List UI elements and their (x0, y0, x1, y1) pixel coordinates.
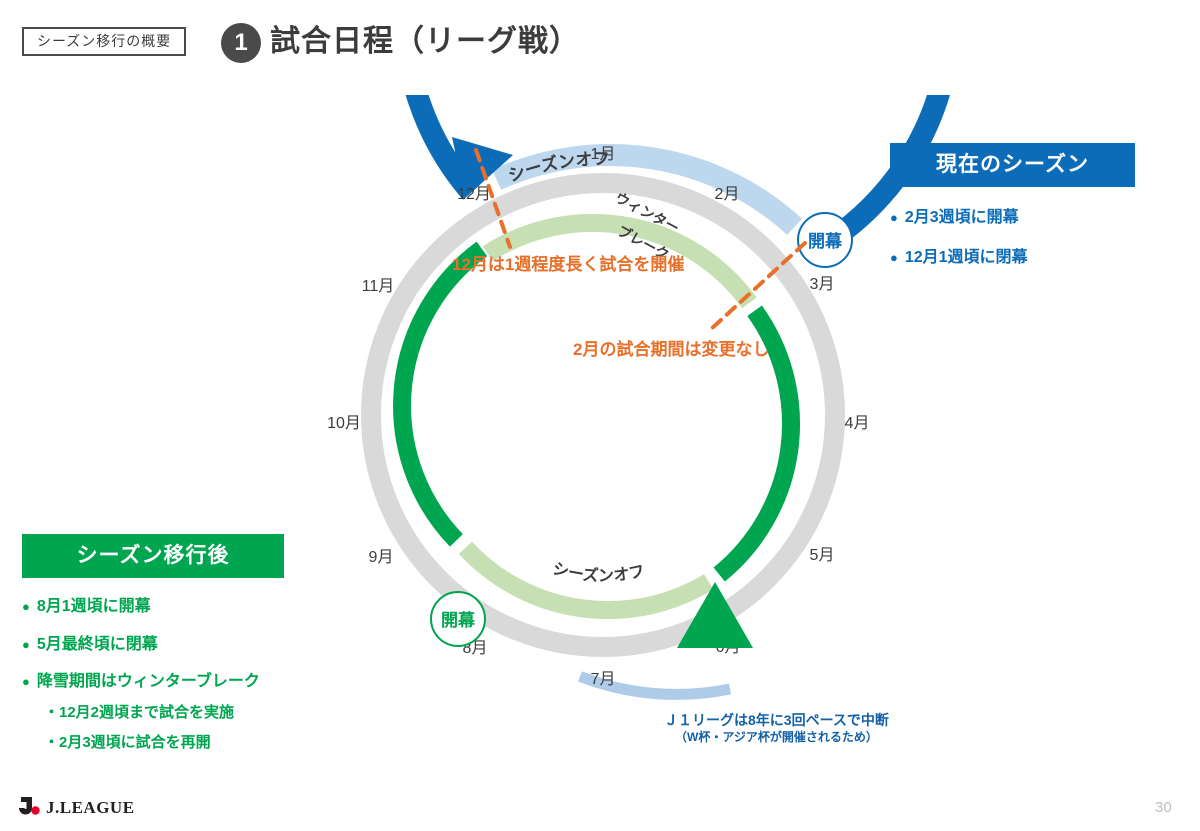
jleague-mark-icon (18, 796, 42, 818)
legend-after-item-0: ● 8月1週頃に開幕 (22, 598, 284, 616)
page-number: 30 (1155, 800, 1172, 815)
bullet-icon: ● (22, 675, 30, 688)
jleague-logo-text: J.LEAGUE (46, 799, 135, 816)
legend-current-item-1-label: 12月1週頃に閉幕 (905, 249, 1028, 267)
month-label-10: 10月 (327, 415, 361, 432)
legend-current-heading: 現在のシーズン (890, 143, 1135, 187)
page-header: シーズン移行の概要 1 試合日程（リーグ戦） (0, 0, 1200, 80)
bullet-icon: ● (22, 600, 30, 613)
page-title: 試合日程（リーグ戦） (270, 20, 580, 64)
month-label-2: 2月 (715, 186, 740, 203)
month-label-11: 11月 (362, 278, 395, 295)
section-kicker: シーズン移行の概要 (22, 27, 186, 56)
month-label-1: 1月 (591, 146, 616, 163)
bullet-icon: ● (890, 211, 898, 224)
month-label-9: 9月 (369, 549, 394, 566)
legend-after-transition: シーズン移行後 ● 8月1週頃に開幕 ● 5月最終頃に閉幕 ● 降雪期間はウィン… (22, 534, 284, 752)
legend-after-item-2: ● 降雪期間はウィンターブレーク (22, 673, 284, 691)
kickoff-badge-current-label: 開幕 (808, 231, 843, 251)
month-label-12: 12月 (457, 186, 491, 203)
legend-after-item-1: ● 5月最終頃に閉幕 (22, 636, 284, 654)
annotation-february: 2月の試合期間は変更なし (573, 341, 769, 358)
interruption-caption-line1: Ｊ１リーグは8年に3回ペースで中断 (664, 712, 889, 730)
kickoff-badge-after: 開幕 (431, 592, 485, 646)
legend-after-item-2-label: 降雪期間はウィンターブレーク (37, 673, 260, 691)
bullet-icon: ● (890, 251, 898, 264)
month-label-4: 4月 (845, 415, 870, 432)
legend-current-season: 現在のシーズン ● 2月3週頃に開幕 ● 12月1週頃に閉幕 (890, 143, 1135, 266)
section-number-badge: 1 (221, 23, 261, 63)
month-label-3: 3月 (810, 276, 835, 293)
interruption-caption-line2: （W杯・アジア杯が開催されるため） (664, 730, 889, 746)
legend-current-item-1: ● 12月1週頃に閉幕 (890, 249, 1135, 267)
interruption-caption: Ｊ１リーグは8年に3回ペースで中断 （W杯・アジア杯が開催されるため） (664, 712, 889, 745)
season-calendar-chart: シーズンオフ 1月 2月 3月 4月 5月 6月 7月 8月 9月 10月 11… (253, 95, 953, 735)
jleague-logo: J.LEAGUE (18, 796, 135, 818)
annotation-december: 12月は1週程度長く試合を開催 (452, 256, 684, 273)
bullet-icon: ● (22, 638, 30, 651)
legend-after-item-1-label: 5月最終頃に閉幕 (37, 636, 158, 654)
month-label-7: 7月 (591, 671, 616, 688)
month-label-5: 5月 (810, 547, 835, 564)
after-offseason-label: シーズンオフ (551, 561, 647, 586)
kickoff-badge-current: 開幕 (798, 213, 852, 267)
kickoff-badge-after-label: 開幕 (441, 610, 476, 630)
legend-current-item-0: ● 2月3週頃に開幕 (890, 209, 1135, 227)
legend-current-item-0-label: 2月3週頃に開幕 (905, 209, 1019, 227)
legend-after-subitem-0: ・12月2週頃まで試合を実施 (44, 705, 284, 722)
legend-after-item-0-label: 8月1週頃に開幕 (37, 598, 151, 616)
legend-after-heading: シーズン移行後 (22, 534, 284, 578)
legend-after-subitem-1: ・2月3週頃に試合を再開 (44, 735, 284, 752)
